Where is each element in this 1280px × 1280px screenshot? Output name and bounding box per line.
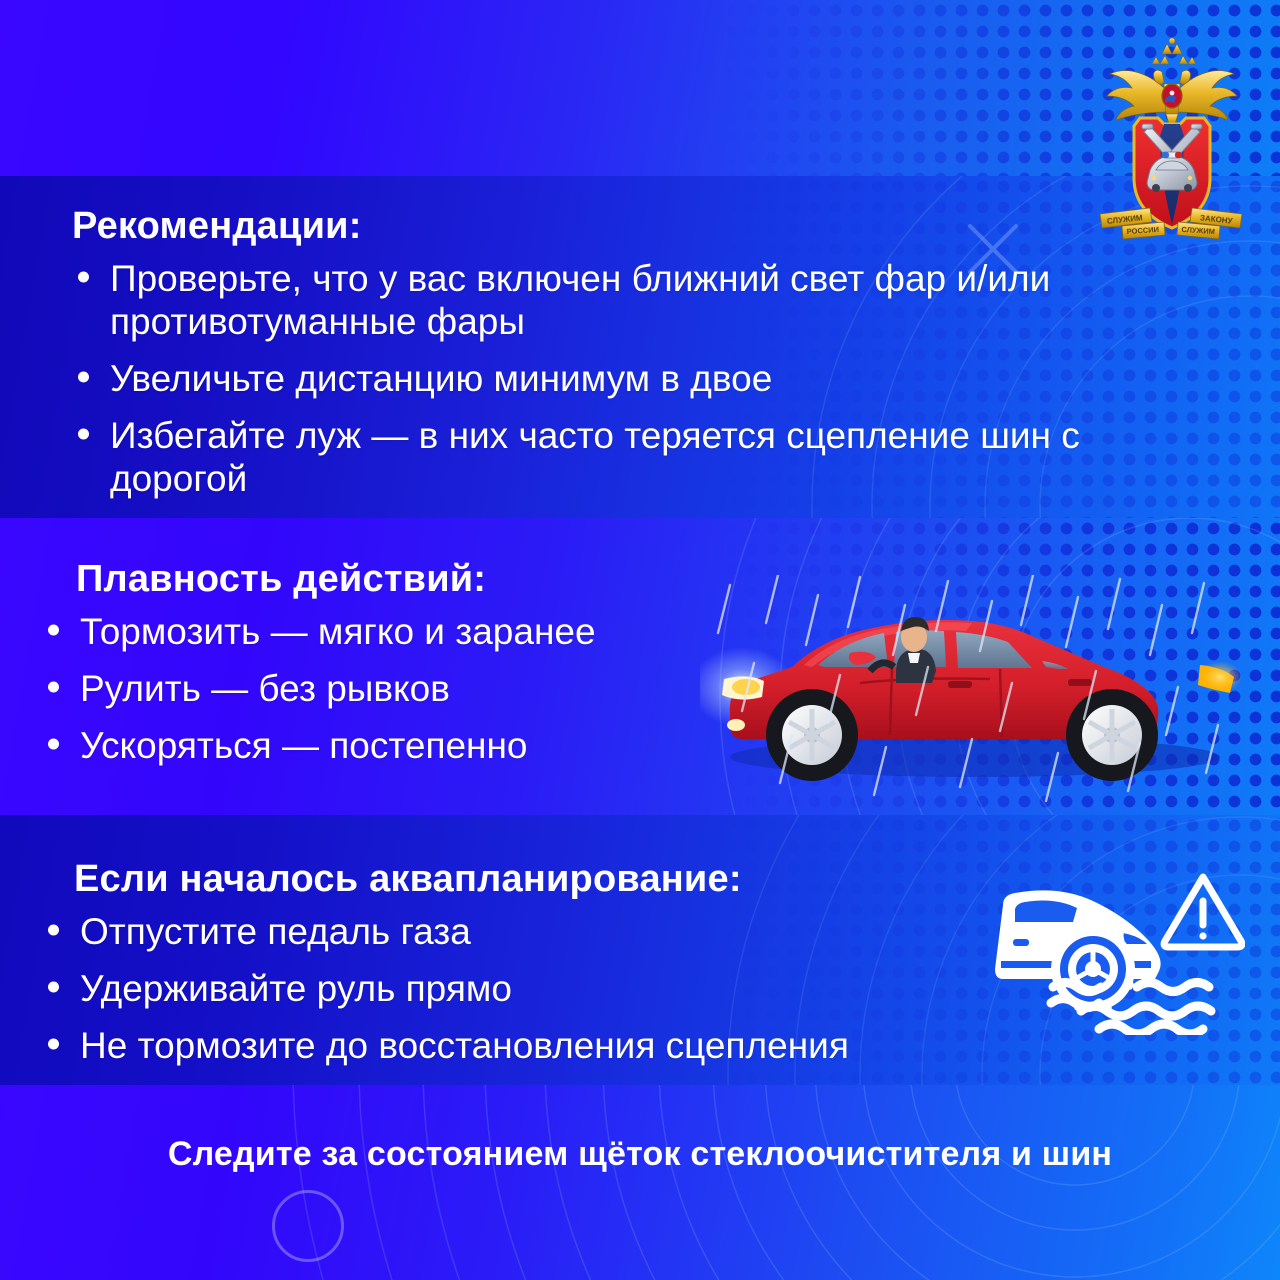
bullet-list-smoothness: Тормозить — мягко и заранее Рулить — без… [42,611,702,768]
section-heading-aquaplaning: Если началось аквапланирование: [42,858,1002,901]
section-heading-smoothness: Плавность действий: [42,558,702,601]
section-recommendations: Рекомендации: Проверьте, что у вас включ… [72,205,1082,515]
bullet-list-aquaplaning: Отпустите педаль газа Удерживайте руль п… [42,911,1002,1068]
fog-lamp [727,719,745,731]
water-waves-icon [1051,983,1211,1035]
list-item: Проверьте, что у вас включен ближний све… [72,258,1082,344]
list-item: Ускоряться — постепенно [42,725,702,768]
section-aquaplaning: Если началось аквапланирование: Отпустит… [42,858,1002,1082]
section-smoothness: Плавность действий: Тормозить — мягко и … [42,558,702,782]
list-item: Не тормозите до восстановления сцепления [42,1025,1002,1068]
list-item: Рулить — без рывков [42,668,702,711]
mvd-emblem: СЛУЖИМ ЗАКОНУ РОССИИ СЛУЖИМ [1092,28,1252,246]
car-in-rain-illustration [700,575,1245,805]
section-heading-recommendations: Рекомендации: [72,205,1082,248]
rear-wheel [1066,689,1158,781]
list-item: Тормозить — мягко и заранее [42,611,702,654]
list-item: Отпустите педаль газа [42,911,1002,954]
door-handle [948,681,972,688]
front-wheel [766,689,858,781]
aquaplaning-illustration [995,865,1245,1035]
list-item: Избегайте луж — в них часто теряется сце… [72,415,1082,501]
header-band [0,0,1280,176]
warning-triangle-icon [1164,877,1242,947]
infographic-poster: СЛУЖИМ ЗАКОНУ РОССИИ СЛУЖИМ Рекомендации… [0,0,1280,1280]
list-item: Увеличьте дистанцию минимум в двое [72,358,1082,401]
arc-rings-decoration-4 [0,1085,1280,1280]
bullet-list-recommendations: Проверьте, что у вас включен ближний све… [72,258,1082,501]
footer-band [0,1085,1280,1280]
double-headed-eagle-icon [1107,38,1237,124]
list-item: Удерживайте руль прямо [42,968,1002,1011]
footer-message: Следите за состоянием щёток стеклоочисти… [0,1135,1280,1174]
door-handle [1068,679,1092,686]
